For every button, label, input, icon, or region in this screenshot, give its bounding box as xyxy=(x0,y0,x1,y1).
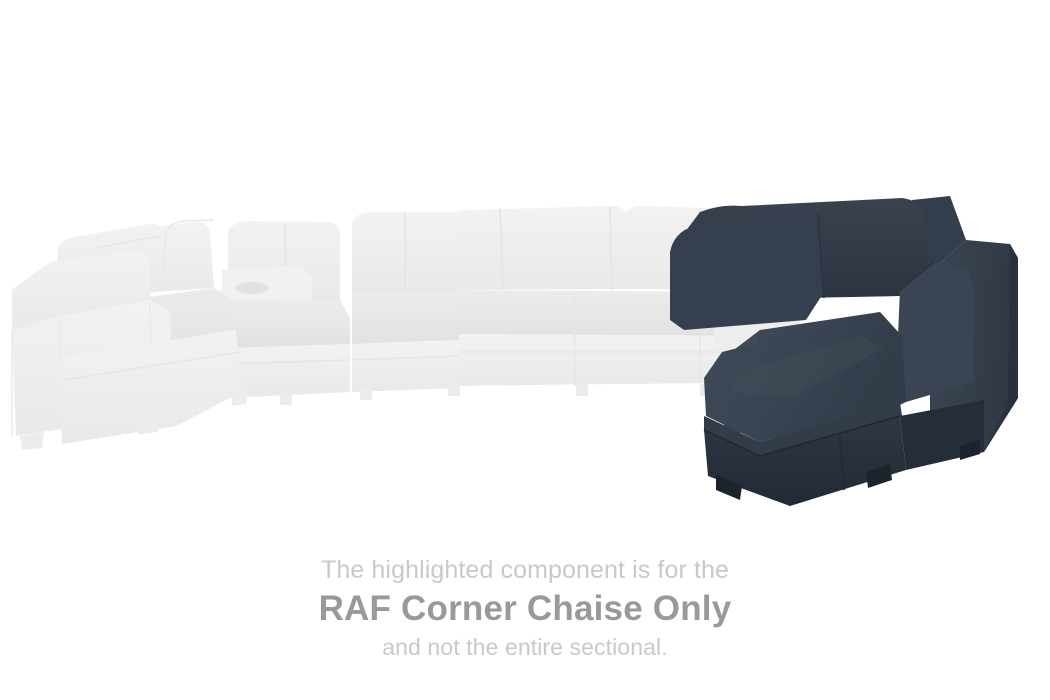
caption-line-3: and not the entire sectional. xyxy=(0,636,1050,659)
caption-line-1: The highlighted component is for the xyxy=(0,540,1050,583)
caption-component-name: RAF Corner Chaise Only xyxy=(0,591,1050,626)
ghost-laf-loveseat xyxy=(12,220,248,450)
caption-block: The highlighted component is for the RAF… xyxy=(0,540,1050,659)
ghost-left-run xyxy=(222,221,350,405)
sectional-illustration xyxy=(0,0,1050,520)
ghost-corner-wedge xyxy=(352,212,460,400)
product-highlight-image: The highlighted component is for the RAF… xyxy=(0,0,1050,700)
